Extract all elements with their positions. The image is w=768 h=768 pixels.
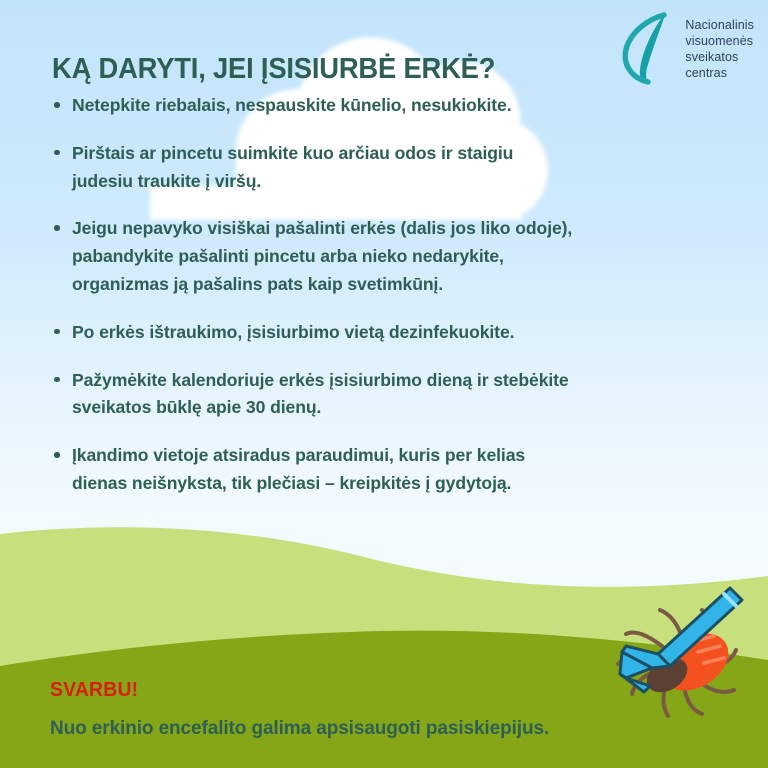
bullet-line: Po erkės ištraukimo, įsisiurbimo vietą d…: [72, 319, 742, 347]
bullet-line: Netepkite riebalais, nespauskite kūnelio…: [72, 92, 742, 120]
list-item-disinfect: Po erkės ištraukimo, įsisiurbimo vietą d…: [52, 319, 742, 347]
bullet-dot-icon: [54, 225, 60, 231]
logo-line-3: sveikatos: [685, 49, 754, 65]
bullet-dot-icon: [54, 102, 60, 108]
important-label: SVARBU!: [50, 679, 671, 702]
list-item-pull-with-tweezers: Pirštais ar pincetu suimkite kuo arčiau …: [52, 140, 742, 196]
list-item-partial-removal: Jeigu nepavyko visiškai pašalinti erkės …: [52, 215, 742, 298]
page-title: KĄ DARYTI, JEI ĮSISIURBĖ ERKĖ?: [52, 53, 495, 86]
bullet-line: pabandykite pašalinti pincetu arba nieko…: [72, 243, 742, 271]
logo-line-2: visuomenės: [685, 33, 754, 49]
bullet-line: organizmas ją pašalins pats kaip svetimk…: [72, 271, 742, 299]
bullet-line: sveikatos būklę apie 30 dienų.: [72, 394, 742, 422]
bullet-line: Jeigu nepavyko visiškai pašalinti erkės …: [72, 215, 742, 243]
bullet-line: Pirštais ar pincetu suimkite kuo arčiau …: [72, 140, 742, 168]
list-item-mark-calendar: Pažymėkite kalendoriuje erkės įsisiurbim…: [52, 367, 742, 423]
bullet-dot-icon: [54, 329, 60, 335]
logo-line-1: Nacionalinis: [685, 17, 754, 33]
bullet-line: judesiu traukite į viršų.: [72, 168, 742, 196]
logo-wordmark: Nacionalinis visuomenės sveikatos centra…: [685, 10, 754, 81]
list-item-see-doctor: Įkandimo vietoje atsiradus paraudimui, k…: [52, 442, 742, 498]
bullet-line: Pažymėkite kalendoriuje erkės įsisiurbim…: [72, 367, 742, 395]
bullet-dot-icon: [54, 150, 60, 156]
vaccination-note: Nuo erkinio encefalito galima apsisaugot…: [50, 718, 690, 740]
bullet-dot-icon: [54, 377, 60, 383]
bullet-line: dienas neišnyksta, tik plečiasi – kreipk…: [72, 470, 742, 498]
tick-removal-infographic: Nacionalinis visuomenės sveikatos centra…: [0, 0, 768, 768]
bullet-line: Įkandimo vietoje atsiradus paraudimui, k…: [72, 442, 742, 470]
logo-line-4: centras: [685, 65, 754, 81]
organization-logo: Nacionalinis visuomenės sveikatos centra…: [619, 10, 754, 86]
bullet-dot-icon: [54, 452, 60, 458]
tweezers-removing-tick-illustration: [600, 582, 760, 732]
nvsc-vessel-logo-icon: [619, 10, 677, 86]
advice-list: Netepkite riebalais, nespauskite kūnelio…: [52, 92, 742, 498]
footer-section: SVARBU! Nuo erkinio encefalito galima ap…: [50, 679, 690, 740]
list-item-no-grease: Netepkite riebalais, nespauskite kūnelio…: [52, 92, 742, 120]
